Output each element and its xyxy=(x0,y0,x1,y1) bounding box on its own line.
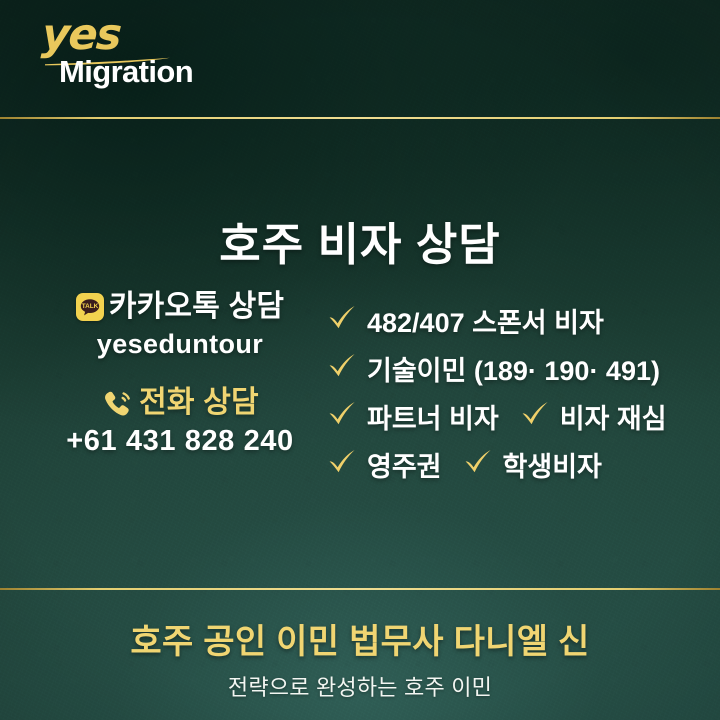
svg-text:TALK: TALK xyxy=(82,302,99,309)
service-label: 기술이민 (189· 190· 491) xyxy=(367,349,660,388)
kakaotalk-icon: TALK xyxy=(76,293,104,321)
phone-call-icon xyxy=(101,387,134,420)
service-label: 482/407 스폰서 비자 xyxy=(367,301,604,340)
service-item: 학생비자 xyxy=(464,445,602,484)
service-item: 482/407 스폰서 비자 xyxy=(328,301,604,340)
service-item: 파트너 비자 xyxy=(328,397,499,436)
phone-number-value: +61 431 828 240 xyxy=(40,425,320,458)
service-item: 기술이민 (189· 190· 491) xyxy=(328,349,660,388)
service-row: 기술이민 (189· 190· 491) xyxy=(328,344,698,392)
service-label: 비자 재심 xyxy=(560,397,667,436)
service-row: 영주권 학생비자 xyxy=(328,440,698,488)
services-list: 482/407 스폰서 비자 기술이민 (189· 190· 491) 파트너 … xyxy=(328,296,698,488)
poster-footer: 호주 공인 이민 법무사 다니엘 신 전략으로 완성하는 호주 이민 xyxy=(0,614,720,702)
phone-label: 전화 상담 xyxy=(139,386,259,419)
check-icon xyxy=(328,448,356,476)
logo-yes-text: yes xyxy=(40,14,121,57)
poster-header: yes Migration xyxy=(0,0,720,118)
service-label: 학생비자 xyxy=(503,445,602,484)
kakao-headline: TALK 카카오톡 상담 xyxy=(40,290,320,323)
top-gold-divider xyxy=(0,117,720,119)
promotional-poster: yes Migration 호주 비자 상담 TALK xyxy=(0,0,720,720)
check-icon xyxy=(464,448,492,476)
check-icon xyxy=(328,304,356,332)
kakao-contact-block[interactable]: TALK 카카오톡 상담 yeseduntour xyxy=(40,290,320,360)
service-item: 영주권 xyxy=(328,445,442,484)
check-icon xyxy=(328,400,356,428)
contact-column: TALK 카카오톡 상담 yeseduntour xyxy=(40,290,320,458)
kakao-label: 카카오톡 상담 xyxy=(109,290,284,323)
bottom-gold-divider xyxy=(0,588,720,590)
phone-headline: 전화 상담 xyxy=(40,386,320,419)
phone-contact-block[interactable]: 전화 상담 +61 431 828 240 xyxy=(40,386,320,458)
footer-subtitle: 전략으로 완성하는 호주 이민 xyxy=(0,670,720,702)
brand-logo: yes Migration xyxy=(36,16,256,100)
service-label: 영주권 xyxy=(367,445,442,484)
logo-migration-text: Migration xyxy=(59,56,193,87)
page-title: 호주 비자 상담 xyxy=(0,208,720,273)
service-item: 비자 재심 xyxy=(521,397,667,436)
check-icon xyxy=(328,352,356,380)
kakao-id-value: yeseduntour xyxy=(40,329,320,360)
footer-title: 호주 공인 이민 법무사 다니엘 신 xyxy=(0,614,720,663)
check-icon xyxy=(521,400,549,428)
service-label: 파트너 비자 xyxy=(367,397,499,436)
service-row: 파트너 비자 비자 재심 xyxy=(328,392,698,440)
service-row: 482/407 스폰서 비자 xyxy=(328,296,698,344)
